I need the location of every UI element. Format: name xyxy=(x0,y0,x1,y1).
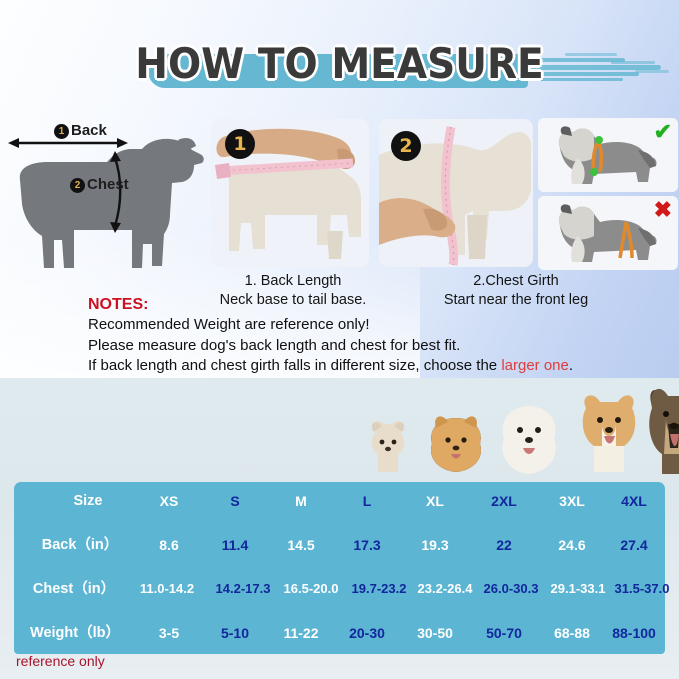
notes-line-3-period: . xyxy=(569,357,573,374)
back-value-3xl: 24.6 xyxy=(541,534,603,556)
table-row-back: Back（in） 8.6 11.4 14.5 17.3 19.3 22 24.6… xyxy=(14,534,665,576)
dog-silhouette-diagram: 1Back 2Chest xyxy=(2,118,207,278)
chest-measure-label: 2Chest xyxy=(70,176,129,193)
weight-value-xs: 3-5 xyxy=(138,622,200,644)
back-value-s: 11.4 xyxy=(204,534,266,556)
dog-photo-chihuahua xyxy=(360,416,416,476)
dog-breed-photo-row xyxy=(352,384,679,476)
back-measure-label: 1Back xyxy=(54,122,107,139)
page-title: HOW TO MEASURE xyxy=(24,36,655,92)
caption-chest-girth-line1: 2.Chest Girth xyxy=(428,272,604,291)
weight-value-m: 11-22 xyxy=(270,622,332,644)
dog-photo-corgi xyxy=(574,394,644,476)
back-value-m: 14.5 xyxy=(270,534,332,556)
size-header-xs: XS xyxy=(138,490,200,512)
cross-icon: ✖ xyxy=(654,199,672,221)
back-value-l: 17.3 xyxy=(336,534,398,556)
photo-badge-1: 1 xyxy=(225,129,255,159)
back-value-xl: 19.3 xyxy=(404,534,466,556)
dog-silhouette-svg xyxy=(2,118,207,278)
dog-photo-bichon xyxy=(494,402,564,476)
notes-heading: NOTES: xyxy=(88,294,648,315)
chest-label-text: Chest xyxy=(87,176,129,193)
dog-photo-pomeranian xyxy=(424,410,488,476)
weight-value-3xl: 68-88 xyxy=(541,622,603,644)
reference-only-footnote: reference only xyxy=(16,652,105,670)
back-value-4xl: 27.4 xyxy=(605,534,663,556)
notes-line-3-text: If back length and chest girth falls in … xyxy=(88,357,501,374)
notes-line-2: Please measure dog's back length and che… xyxy=(88,336,648,357)
title-area: HOW TO MEASURE xyxy=(0,36,679,96)
size-header-4xl: 4XL xyxy=(605,490,663,512)
size-header-2xl: 2XL xyxy=(473,490,535,512)
row-label-weight: Weight（lb） xyxy=(16,622,134,644)
weight-value-xl: 30-50 xyxy=(404,622,466,644)
dog-photo-german-shepherd xyxy=(644,384,679,476)
notes-line-3: If back length and chest girth falls in … xyxy=(88,356,648,377)
row-label-chest: Chest（in） xyxy=(18,578,130,600)
back-label-text: Back xyxy=(71,122,107,139)
size-header-s: S xyxy=(204,490,266,512)
weight-value-s: 5-10 xyxy=(204,622,266,644)
photo-badge-2: 2 xyxy=(391,131,421,161)
size-header-xl: XL xyxy=(404,490,466,512)
notes-line-1: Recommended Weight are reference only! xyxy=(88,315,648,336)
row-label-back: Back（in） xyxy=(24,534,136,556)
notes-section: NOTES: Recommended Weight are reference … xyxy=(88,294,648,377)
back-value-2xl: 22 xyxy=(473,534,535,556)
table-row-chest: Chest（in） 11.0-14.2 14.2-17.3 16.5-20.0 … xyxy=(14,578,665,620)
row-label-size: Size xyxy=(40,490,136,512)
badge-number-2: 2 xyxy=(70,178,85,193)
size-header-3xl: 3XL xyxy=(541,490,603,512)
weight-value-4xl: 88-100 xyxy=(603,622,665,644)
badge-number-1: 1 xyxy=(54,124,69,139)
size-header-l: L xyxy=(336,490,398,512)
photo-incorrect-tape-position: ✖ xyxy=(538,196,678,270)
back-value-xs: 8.6 xyxy=(138,534,200,556)
size-chart-table: Size XS S M L XL 2XL 3XL 4XL Back（in） 8.… xyxy=(14,482,665,654)
chest-value-4xl: 31.5-37.0 xyxy=(599,578,679,600)
weight-value-2xl: 50-70 xyxy=(473,622,535,644)
chest-value-xs: 11.0-14.2 xyxy=(124,578,210,600)
size-header-m: M xyxy=(270,490,332,512)
weight-value-l: 20-30 xyxy=(336,622,398,644)
table-row-weight: Weight（lb） 3-5 5-10 11-22 20-30 30-50 50… xyxy=(14,622,665,664)
table-row-size-header: Size XS S M L XL 2XL 3XL 4XL xyxy=(14,490,665,532)
notes-highlight-larger-one: larger one xyxy=(501,357,569,374)
caption-back-length-line1: 1. Back Length xyxy=(212,272,374,291)
check-icon: ✔ xyxy=(654,121,672,143)
photo-correct-tape-position: ✔ xyxy=(538,118,678,192)
photo-chest-girth-measurement: 2 xyxy=(379,119,533,267)
photo-back-length-measurement: 1 xyxy=(211,119,369,267)
